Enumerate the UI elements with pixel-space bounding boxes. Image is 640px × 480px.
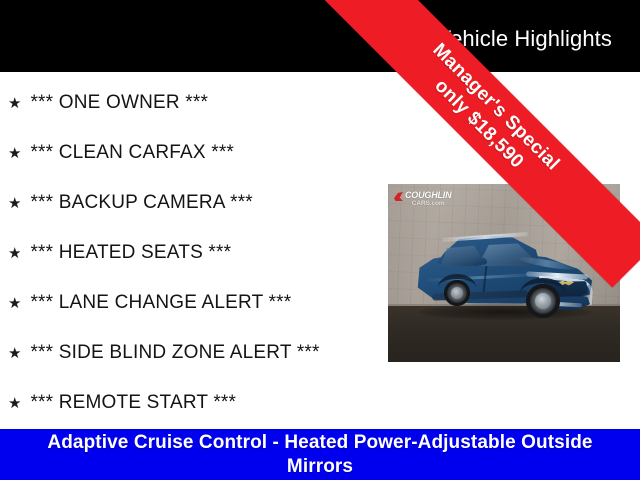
star-icon: ★	[8, 244, 21, 264]
list-item: ★ *** SIDE BLIND ZONE ALERT ***	[8, 342, 320, 364]
list-item-label: *** ONE OWNER ***	[30, 92, 208, 114]
list-item-label: *** CLEAN CARFAX ***	[30, 142, 234, 164]
star-icon: ★	[8, 194, 21, 214]
dealer-watermark: COUGHLIN CARS.com	[394, 191, 451, 208]
list-item: ★ *** ONE OWNER ***	[8, 92, 208, 114]
list-item: ★ *** BACKUP CAMERA ***	[8, 192, 253, 214]
list-item: ★ *** CLEAN CARFAX ***	[8, 142, 234, 164]
star-icon: ★	[8, 394, 21, 414]
vehicle-front-wheel-hub	[535, 293, 551, 309]
list-item-label: *** LANE CHANGE ALERT ***	[30, 292, 291, 314]
dealer-name: COUGHLIN	[405, 191, 451, 200]
list-item: ★ *** HEATED SEATS ***	[8, 242, 231, 264]
dealer-logo-icon	[394, 192, 403, 201]
list-item: ★ *** REMOTE START ***	[8, 392, 236, 414]
star-icon: ★	[8, 94, 21, 114]
vehicle-highlights-graphic: Vehicle Highlights ★ *** ONE OWNER *** ★…	[0, 0, 640, 480]
list-item-label: *** BACKUP CAMERA ***	[30, 192, 252, 214]
vehicle-highlights-list: ★ *** ONE OWNER *** ★ *** CLEAN CARFAX *…	[0, 72, 388, 429]
dealer-site: CARS.com	[405, 201, 451, 208]
star-icon: ★	[8, 294, 21, 314]
bottom-feature-banner: Adaptive Cruise Control - Heated Power-A…	[0, 429, 640, 480]
bottom-feature-banner-text: Adaptive Cruise Control - Heated Power-A…	[0, 431, 640, 479]
star-icon: ★	[8, 144, 21, 164]
vehicle-rear-wheel-hub	[451, 287, 463, 299]
vehicle-side-mirror	[474, 257, 488, 265]
dealer-watermark-text: COUGHLIN CARS.com	[405, 191, 451, 208]
list-item: ★ *** LANE CHANGE ALERT ***	[8, 292, 291, 314]
header-bar: Vehicle Highlights	[0, 0, 640, 72]
list-item-label: *** SIDE BLIND ZONE ALERT ***	[30, 342, 319, 364]
list-item-label: *** REMOTE START ***	[30, 392, 236, 414]
star-icon: ★	[8, 344, 21, 364]
list-item-label: *** HEATED SEATS ***	[30, 242, 231, 264]
